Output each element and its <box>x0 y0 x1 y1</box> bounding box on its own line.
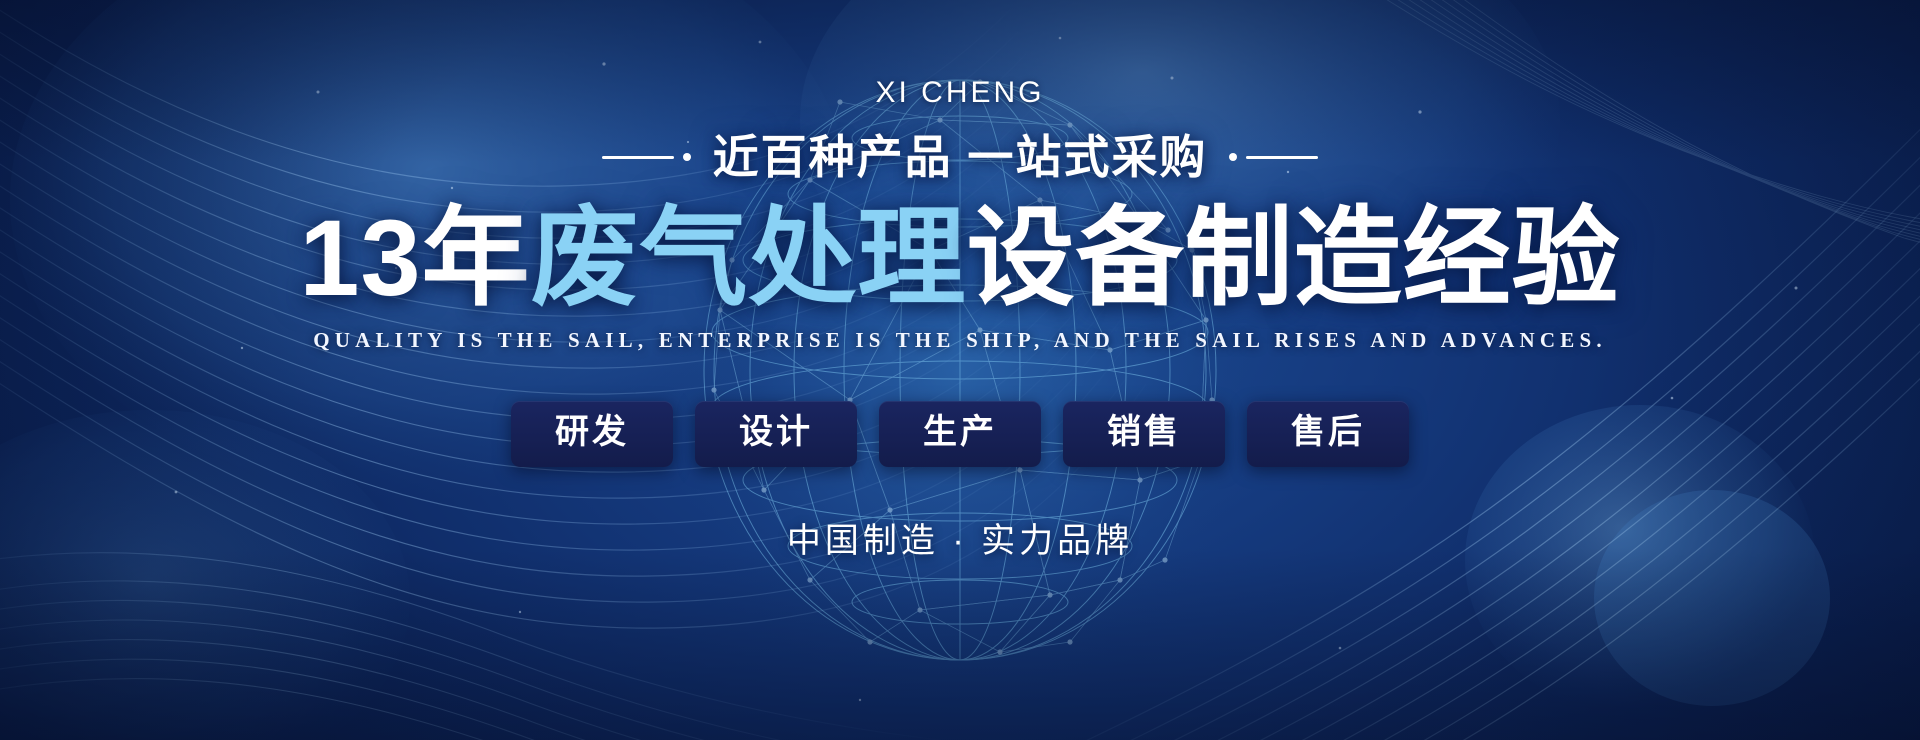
subtitle-text: 近百种产品 一站式采购 <box>713 134 1208 180</box>
service-chip-aftersales[interactable]: 售后 <box>1247 401 1409 466</box>
tagline-english: QUALITY IS THE SAIL, ENTERPRISE IS THE S… <box>313 328 1607 353</box>
banner-content: XI CHENG 近百种产品 一站式采购 13年废气处理设备制造经验 QUALI… <box>0 0 1920 740</box>
headline-part-1: 13年 <box>299 197 530 318</box>
service-chip-group: 研发 设计 生产 销售 售后 <box>511 401 1409 466</box>
footer-tagline: 中国制造 · 实力品牌 <box>787 513 1133 562</box>
subtitle-row: 近百种产品 一站式采购 <box>602 134 1319 180</box>
service-chip-design[interactable]: 设计 <box>695 401 857 466</box>
headline-part-highlight: 废气处理 <box>531 197 967 318</box>
headline-part-3: 设备制造经验 <box>967 197 1621 318</box>
brand-name-en: XI CHENG <box>875 78 1044 108</box>
dot-line-ornament-icon <box>1229 153 1318 161</box>
service-chip-production[interactable]: 生产 <box>879 401 1041 466</box>
service-chip-rd[interactable]: 研发 <box>511 401 673 466</box>
service-chip-sales[interactable]: 销售 <box>1063 401 1225 466</box>
headline: 13年废气处理设备制造经验 <box>299 202 1620 314</box>
line-dot-ornament-icon <box>602 153 691 161</box>
promo-banner: XI CHENG 近百种产品 一站式采购 13年废气处理设备制造经验 QUALI… <box>0 0 1920 740</box>
